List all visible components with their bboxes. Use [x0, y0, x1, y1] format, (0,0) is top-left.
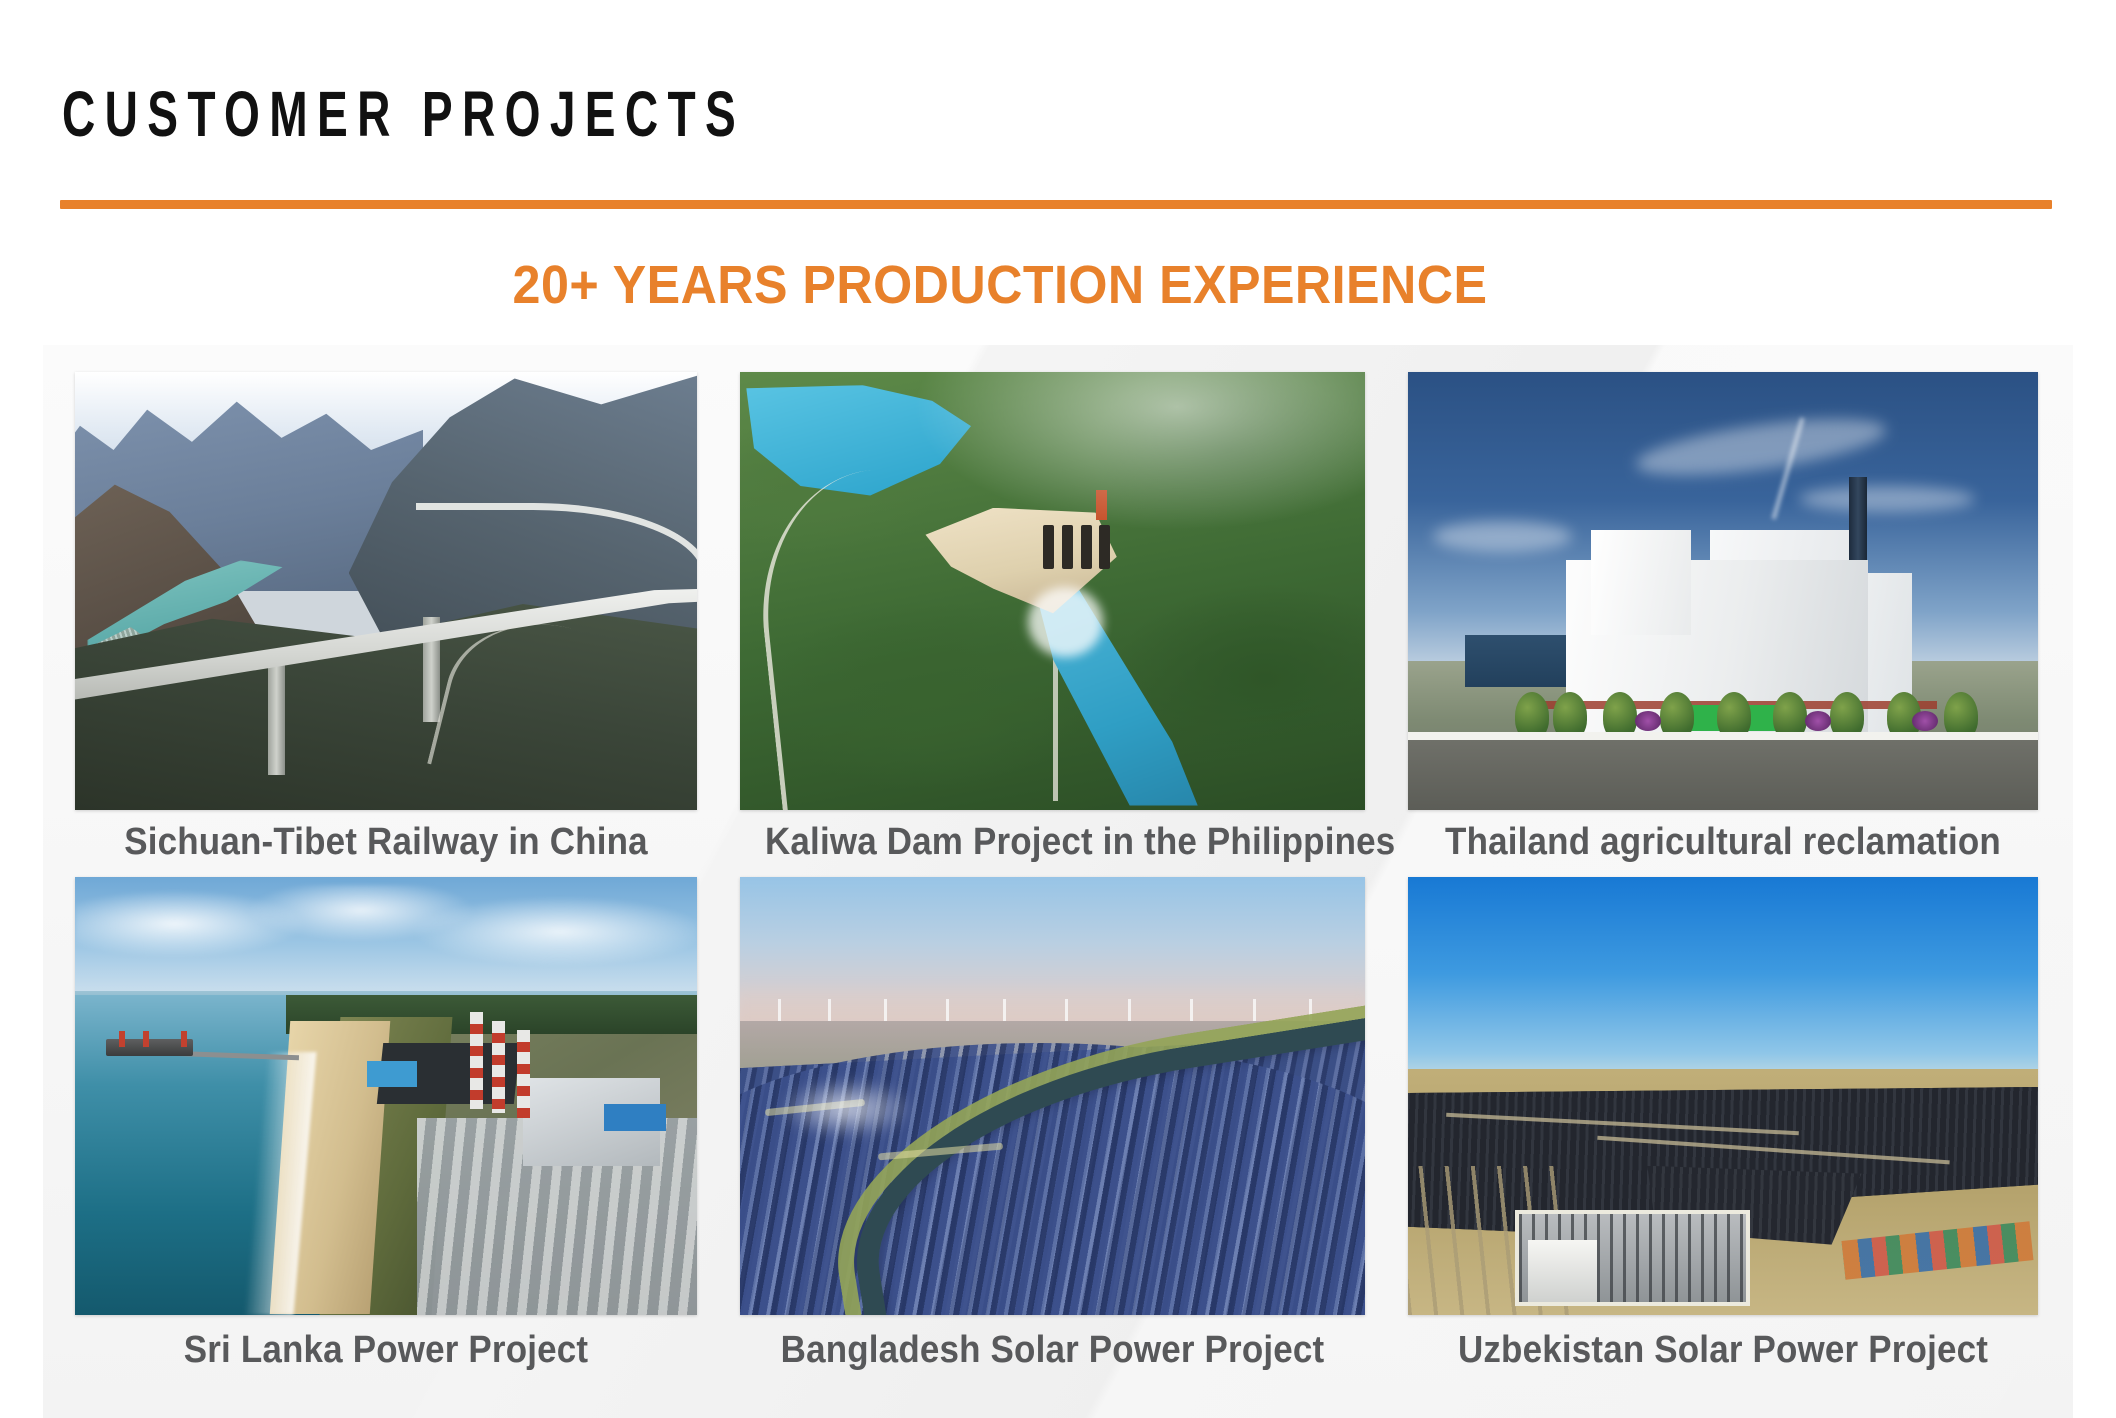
- striped-chimney: [517, 1030, 530, 1118]
- subtitle: 20+ YEARS PRODUCTION EXPERIENCE: [70, 254, 1930, 316]
- project-caption: Thailand agricultural reclamation: [1433, 821, 2013, 865]
- project-caption: Bangladesh Solar Power Project: [765, 1329, 1340, 1373]
- striped-chimney: [470, 1012, 483, 1108]
- project-card-sichuan-tibet-railway[interactable]: Sichuan-Tibet Railway in China: [75, 372, 697, 865]
- control-building: [1528, 1240, 1597, 1301]
- plant-tower-block: [1591, 530, 1692, 635]
- project-card-sri-lanka-power[interactable]: Sri Lanka Power Project: [75, 877, 697, 1373]
- flower-bed: [1805, 711, 1831, 731]
- project-card-thailand-reclamation[interactable]: Thailand agricultural reclamation: [1408, 372, 2038, 865]
- flower-bed: [1635, 711, 1661, 731]
- page-title: CUSTOMER PROJECTS: [62, 82, 745, 146]
- ship-mast: [119, 1031, 125, 1047]
- ship-mast: [143, 1031, 149, 1047]
- sun-glint: [778, 1078, 916, 1139]
- project-gallery-grid: Sichuan-Tibet Railway in China Kaliwa Da…: [75, 372, 2037, 1372]
- project-image-thailand-reclamation: [1408, 372, 2038, 810]
- blue-roof-building: [367, 1061, 417, 1087]
- project-caption: Sichuan-Tibet Railway in China: [100, 821, 672, 865]
- striped-chimney: [492, 1021, 505, 1113]
- blue-roof-building: [604, 1104, 666, 1130]
- title-divider-rule: [60, 200, 2052, 209]
- project-image-kaliwa-dam: [740, 372, 1365, 810]
- bridge-pier: [268, 661, 285, 775]
- project-card-uzbekistan-solar[interactable]: Uzbekistan Solar Power Project: [1408, 877, 2038, 1373]
- project-card-kaliwa-dam[interactable]: Kaliwa Dam Project in the Philippines: [740, 372, 1365, 865]
- project-caption: Kaliwa Dam Project in the Philippines: [765, 821, 1340, 865]
- mist-overlay: [740, 372, 1365, 810]
- sky-layer: [1408, 877, 2038, 1087]
- project-card-bangladesh-solar[interactable]: Bangladesh Solar Power Project: [740, 877, 1365, 1373]
- project-image-sri-lanka-power: [75, 877, 697, 1315]
- ship-mast: [181, 1031, 187, 1047]
- cloud-layer: [75, 885, 697, 981]
- project-caption: Uzbekistan Solar Power Project: [1433, 1329, 2013, 1373]
- cloud-layer: [1433, 521, 1572, 552]
- cloud-layer: [1799, 486, 1975, 512]
- project-image-bangladesh-solar: [740, 877, 1365, 1315]
- project-caption: Sri Lanka Power Project: [100, 1329, 672, 1373]
- project-image-sichuan-tibet-railway: [75, 372, 697, 810]
- project-image-uzbekistan-solar: [1408, 877, 2038, 1315]
- paved-apron: [1408, 740, 2038, 810]
